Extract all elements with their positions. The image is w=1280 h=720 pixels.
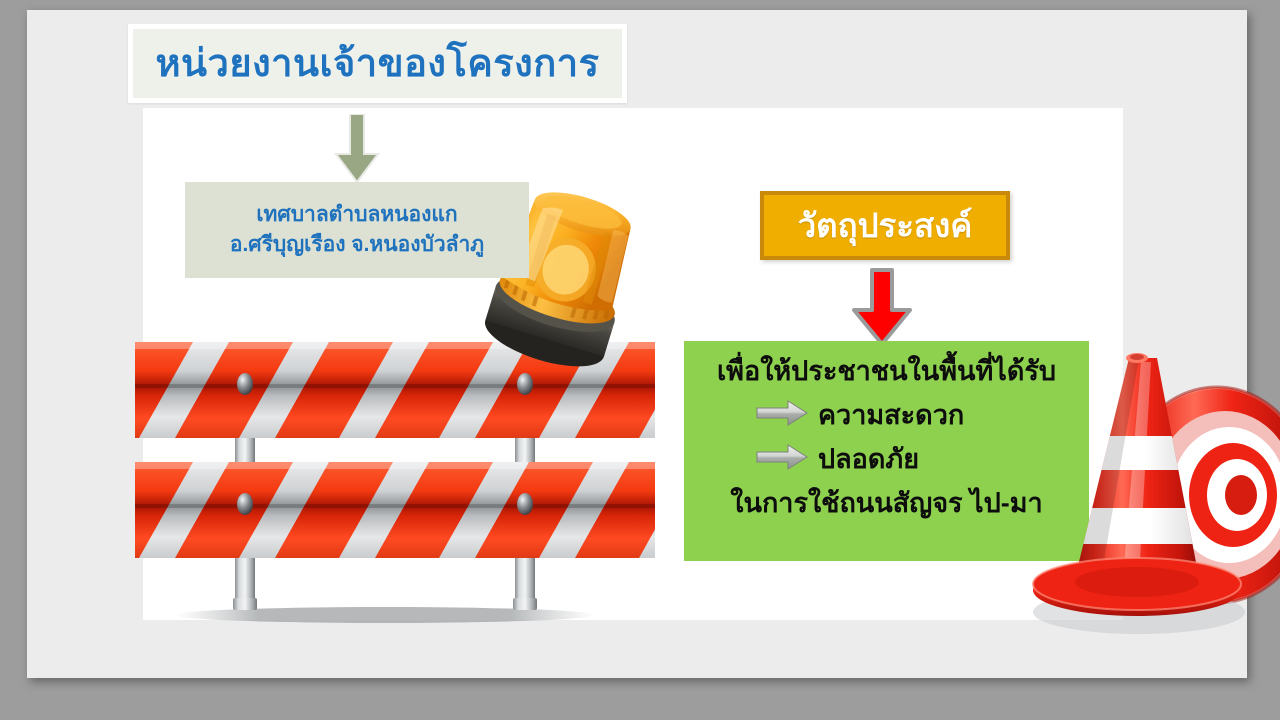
project-owner-title-box: หน่วยงานเจ้าของโครงการ (128, 24, 627, 103)
traffic-cones-icon (1017, 340, 1280, 660)
objective-header-box: วัตถุประสงค์ (760, 191, 1010, 260)
page-title: หน่วยงานเจ้าของโครงการ (156, 45, 600, 83)
slide-canvas: หน่วยงานเจ้าของโครงการ เทศบาลตำบลหนองแก … (27, 10, 1247, 678)
objective-bullet-1-label: ความสะดวก (818, 402, 964, 429)
agency-line-2: อ.ศรีบุญเรือง จ.หนองบัวลำภู (230, 233, 484, 257)
objective-bullet-2-label: ปลอดภัย (818, 446, 919, 473)
down-arrow-icon-sage (334, 114, 380, 184)
agency-line-1: เทศบาลตำบลหนองแก (256, 203, 457, 227)
project-owner-agency-box: เทศบาลตำบลหนองแก อ.ศรีบุญเรือง จ.หนองบัว… (185, 182, 529, 278)
objective-header-label: วัตถุประสงค์ (798, 209, 973, 242)
road-barricade-icon-bottom (135, 450, 695, 630)
right-arrow-icon (756, 400, 808, 431)
down-arrow-icon-red (849, 268, 915, 348)
right-arrow-icon (756, 444, 808, 475)
